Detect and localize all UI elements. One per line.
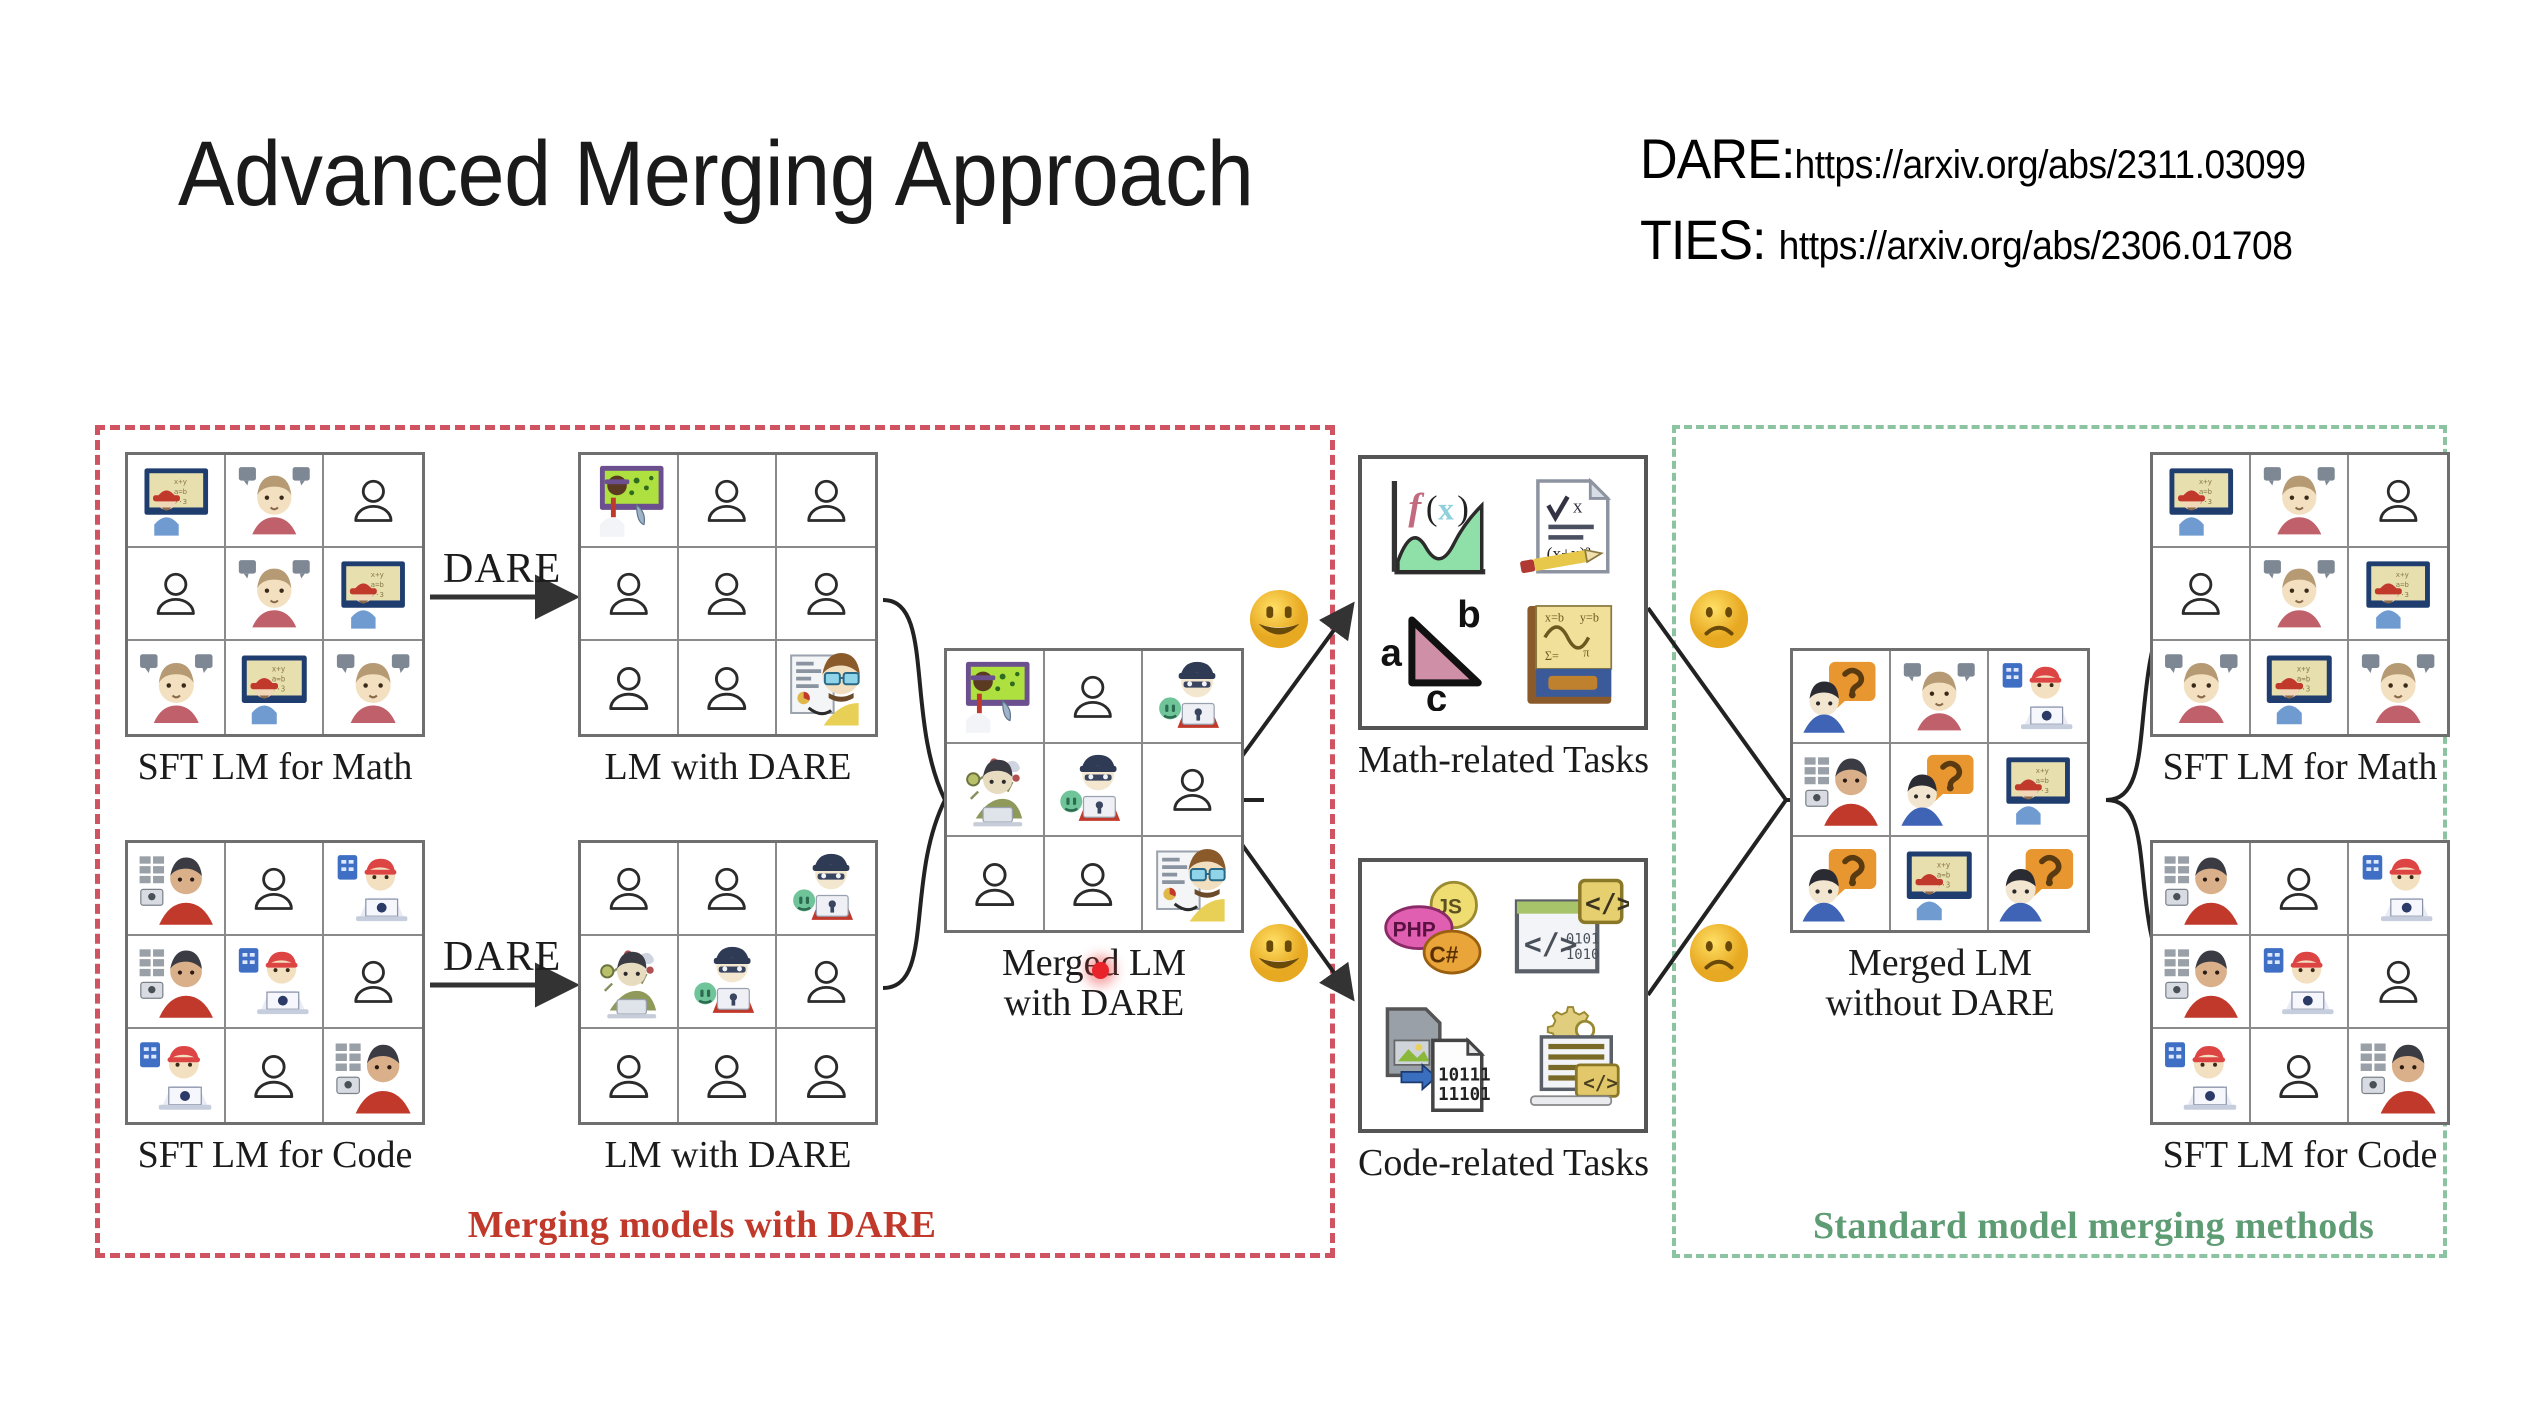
svg-text:a=b: a=b xyxy=(2396,580,2409,589)
svg-text:x+y: x+y xyxy=(1936,860,1950,869)
php-js-csharp-badges-icon-icon: JSPHPC# xyxy=(1377,877,1496,989)
coder-laptop-icon xyxy=(2258,942,2341,1020)
teacher-green-board-icon xyxy=(954,657,1037,735)
svg-text:0101: 0101 xyxy=(1566,931,1600,947)
technologist-network-icon xyxy=(954,750,1037,828)
svg-text:PHP: PHP xyxy=(1393,918,1436,941)
empty-icon xyxy=(1063,668,1123,724)
grinning-face-icon xyxy=(1248,588,1310,650)
coder-laptop-icon xyxy=(233,942,316,1020)
task-icon-slot: </>01011010</> xyxy=(1505,872,1634,994)
block-lm-with-dare-math: LM with DARE xyxy=(578,452,878,787)
grid-cell-empty xyxy=(226,1029,324,1122)
face-code-without-dare xyxy=(1688,922,1750,984)
dev-server-icon xyxy=(135,849,218,927)
grid-cell-filled xyxy=(324,1029,422,1122)
arrow-label-dare-code: DARE xyxy=(443,933,561,981)
svg-text:x+y: x+y xyxy=(271,664,285,673)
grid-cell-filled xyxy=(777,843,875,936)
task-icon-slot: f(x) xyxy=(1372,469,1501,591)
grid-cell-empty xyxy=(679,843,777,936)
svg-text:1010: 1010 xyxy=(1566,947,1600,963)
grid-cell-filled xyxy=(1891,744,1989,837)
grid-cell-filled xyxy=(226,548,324,641)
coder-laptop-icon xyxy=(135,1036,218,1116)
coder-laptop-icon xyxy=(331,849,415,927)
reference-dare-url[interactable]: https://arxiv.org/abs/2311.03099 xyxy=(1795,143,2306,188)
svg-text:</>: </> xyxy=(1583,1072,1618,1095)
page-title: Advanced Merging Approach xyxy=(178,128,1253,220)
person-thinking-icon xyxy=(233,461,316,539)
svg-text:x+y: x+y xyxy=(371,571,385,580)
grid-cell-empty xyxy=(128,548,226,641)
dev-server-icon xyxy=(331,1036,415,1116)
grid-cell-filled xyxy=(1045,744,1143,837)
grid-cell-filled: x+ya=b7·3 xyxy=(324,548,422,641)
triangle-abc-icon-icon: abc xyxy=(1377,599,1496,711)
grid-cell-filled xyxy=(1143,837,1241,930)
grid-cell-empty xyxy=(2251,1029,2349,1122)
task-icon-slot: x(x+y)² xyxy=(1505,469,1634,591)
grid-cell-empty xyxy=(2349,936,2447,1029)
svg-text:a=b: a=b xyxy=(1936,870,1950,879)
empty-icon xyxy=(2368,953,2429,1009)
teacher-math-board-icon: x+ya=b7·3 xyxy=(1996,750,2080,828)
empty-icon xyxy=(697,472,757,528)
coder-laptop-icon xyxy=(1996,657,2080,735)
block-label-code-tasks: Code-related Tasks xyxy=(1358,1143,1649,1183)
face-math-with-dare xyxy=(1248,588,1310,650)
grid-cell-filled xyxy=(128,1029,226,1122)
grid-cell-filled xyxy=(2153,641,2251,734)
svg-text:C#: C# xyxy=(1430,941,1459,967)
grid-cell-filled xyxy=(1793,651,1891,744)
grid-cell-filled xyxy=(2153,843,2251,936)
svg-text:x+y: x+y xyxy=(2296,664,2310,673)
svg-text:a=b: a=b xyxy=(371,580,384,589)
grid-cell-filled xyxy=(2251,548,2349,641)
face-code-with-dare xyxy=(1248,922,1310,984)
svg-text:x+y: x+y xyxy=(2036,767,2050,776)
grid-cell-filled: x+ya=b7·3 xyxy=(128,455,226,548)
grid-cell-filled: x+ya=b7·3 xyxy=(1989,744,2087,837)
grid-cell-filled: x+ya=b7·3 xyxy=(226,641,324,734)
file-binary-convert-icon-icon: 1011111101 xyxy=(1377,1002,1496,1114)
task-icon-slot: 1011111101 xyxy=(1372,998,1501,1120)
teacher-math-board-icon: x+ya=b7·3 xyxy=(2356,554,2440,632)
dev-server-icon xyxy=(2356,1036,2440,1116)
person-thinking-icon xyxy=(2258,554,2341,632)
svg-text:a: a xyxy=(1381,632,1403,675)
grid-cell-filled xyxy=(679,936,777,1029)
person-thinking-icon xyxy=(233,554,316,632)
empty-icon xyxy=(697,1047,757,1105)
block-merged-lm-without-dare: x+ya=b7·3x+ya=b7·3 Merged LM without DAR… xyxy=(1790,648,2090,1024)
empty-icon xyxy=(244,860,304,916)
empty-icon xyxy=(599,860,659,916)
grid-cell-empty xyxy=(947,837,1045,930)
grid-cell-empty xyxy=(2251,843,2349,936)
grid-cell-filled xyxy=(1793,744,1891,837)
reference-ties-url[interactable]: https://arxiv.org/abs/2306.01708 xyxy=(1779,224,2293,269)
empty-icon xyxy=(796,953,857,1009)
person-thinking-icon xyxy=(135,648,218,728)
empty-icon xyxy=(2269,860,2329,916)
grid-cell-filled xyxy=(2349,1029,2447,1122)
grid-cell-empty xyxy=(777,548,875,641)
block-math-related-tasks: f(x)x(x+y)²abcx=by=bΣ=π Math-related Tas… xyxy=(1358,455,1649,780)
empty-icon xyxy=(965,855,1025,913)
svg-text:x=b: x=b xyxy=(1545,611,1564,625)
grid-cell-empty xyxy=(1045,837,1143,930)
reference-dare-key: DARE: xyxy=(1640,126,1795,191)
empty-icon xyxy=(599,1047,659,1105)
svg-text:c: c xyxy=(1426,677,1447,711)
empty-icon xyxy=(697,860,757,916)
code-deploy-icon-icon: </> xyxy=(1510,1002,1629,1114)
reference-links: DARE: https://arxiv.org/abs/2311.03099 T… xyxy=(1640,126,2306,272)
grid-cell-empty xyxy=(226,843,324,936)
grid-cell-empty xyxy=(679,641,777,734)
block-sft-lm-for-code-right: SFT LM for Code xyxy=(2150,840,2450,1175)
dev-server-icon xyxy=(1800,750,1883,828)
empty-icon xyxy=(343,472,404,528)
svg-text:b: b xyxy=(1457,599,1480,636)
empty-icon xyxy=(1162,761,1223,817)
person-thinking-icon xyxy=(2356,648,2440,728)
grid-cell-filled xyxy=(226,936,324,1029)
svg-text:f: f xyxy=(1409,486,1425,528)
block-label-sft-math-left: SFT LM for Math xyxy=(125,747,425,787)
block-label-sft-code-left: SFT LM for Code xyxy=(125,1135,425,1175)
grid-cell-filled xyxy=(128,936,226,1029)
hacker-laptop-icon xyxy=(784,849,868,927)
task-icon-slot: abc xyxy=(1372,595,1501,717)
empty-icon xyxy=(697,659,757,717)
slightly-frowning-face-icon xyxy=(1688,922,1750,984)
reference-ties-key: TIES: xyxy=(1640,207,1766,272)
block-code-related-tasks: JSPHPC#</>01011010</>1011111101</> Code-… xyxy=(1358,858,1649,1183)
empty-icon xyxy=(2171,565,2231,621)
svg-text:x+y: x+y xyxy=(174,478,188,487)
block-label-math-tasks: Math-related Tasks xyxy=(1358,740,1649,780)
code-window-icon-icon: </>01011010</> xyxy=(1510,877,1629,989)
arrow-label-dare-math: DARE xyxy=(443,545,561,593)
teacher-green-board-icon xyxy=(588,461,671,539)
hacker-laptop-icon xyxy=(686,942,769,1020)
svg-text:a=b: a=b xyxy=(2036,776,2049,785)
block-sft-lm-for-math-left: x+ya=b7·3x+ya=b7·3x+ya=b7·3 SFT LM for M… xyxy=(125,452,425,787)
reference-ties: TIES: https://arxiv.org/abs/2306.01708 xyxy=(1640,207,2306,272)
math-textbook-icon-icon: x=by=bΣ=π xyxy=(1510,599,1629,711)
grid-cell-empty xyxy=(679,1029,777,1122)
person-thinking-icon xyxy=(2160,648,2243,728)
grid-cell-filled: x+ya=b7·3 xyxy=(1891,837,1989,930)
dev-server-icon xyxy=(135,942,218,1020)
empty-icon xyxy=(1063,855,1123,913)
svg-text:π: π xyxy=(1583,646,1589,660)
slightly-frowning-face-icon xyxy=(1688,588,1750,650)
grid-cell-filled xyxy=(947,651,1045,744)
svg-text:x: x xyxy=(1573,496,1583,517)
face-math-without-dare xyxy=(1688,588,1750,650)
region-left-caption: Merging models with DARE xyxy=(87,1203,1317,1247)
person-question-icon xyxy=(1898,750,1981,828)
hacker-laptop-icon xyxy=(1150,657,1234,735)
scientist-chart-icon xyxy=(784,648,868,728)
grid-cell-filled xyxy=(1793,837,1891,930)
person-thinking-icon xyxy=(331,648,415,728)
block-label-merged-with-dare: Merged LM with DARE xyxy=(944,943,1244,1024)
empty-icon xyxy=(244,1047,304,1105)
grid-cell-empty xyxy=(679,455,777,548)
svg-text:x: x xyxy=(1438,491,1454,526)
grid-cell-filled xyxy=(947,744,1045,837)
grid-cell-empty xyxy=(2153,548,2251,641)
svg-text:x+y: x+y xyxy=(2396,571,2410,580)
grid-cell-filled xyxy=(2349,843,2447,936)
grid-cell-empty xyxy=(777,455,875,548)
grid-cell-empty xyxy=(581,548,679,641)
block-sft-lm-for-code-left: SFT LM for Code xyxy=(125,840,425,1175)
block-lm-with-dare-code: LM with DARE xyxy=(578,840,878,1175)
svg-text:a=b: a=b xyxy=(271,674,285,683)
hacker-laptop-icon xyxy=(1052,750,1135,828)
task-icon-slot: </> xyxy=(1505,998,1634,1120)
svg-text:a=b: a=b xyxy=(174,487,187,496)
block-sft-lm-for-math-right: x+ya=b7·3x+ya=b7·3x+ya=b7·3 SFT LM for M… xyxy=(2150,452,2450,787)
empty-icon xyxy=(2269,1047,2329,1105)
svg-text:11101: 11101 xyxy=(1438,1085,1491,1105)
grid-cell-filled xyxy=(581,936,679,1029)
svg-text:x+y: x+y xyxy=(2199,478,2213,487)
reference-dare: DARE: https://arxiv.org/abs/2311.03099 xyxy=(1640,126,2306,191)
svg-text:y=b: y=b xyxy=(1580,611,1599,625)
laser-pointer-dot xyxy=(1092,962,1109,979)
coder-laptop-icon xyxy=(2160,1036,2243,1116)
person-question-icon xyxy=(1800,844,1883,924)
teacher-math-board-icon: x+ya=b7·3 xyxy=(1898,844,1981,924)
svg-text:(: ( xyxy=(1426,488,1438,527)
grid-cell-filled xyxy=(324,641,422,734)
teacher-math-board-icon: x+ya=b7·3 xyxy=(233,648,316,728)
person-thinking-icon xyxy=(2258,461,2341,539)
grid-cell-filled xyxy=(128,843,226,936)
empty-icon xyxy=(2368,472,2429,528)
technologist-network-icon xyxy=(588,942,671,1020)
grid-cell-filled xyxy=(1989,837,2087,930)
svg-text:Σ=: Σ= xyxy=(1545,649,1559,663)
grid-cell-filled xyxy=(128,641,226,734)
grid-cell-filled xyxy=(777,641,875,734)
grid-cell-empty xyxy=(1045,651,1143,744)
teacher-math-board-icon: x+ya=b7·3 xyxy=(135,461,218,539)
teacher-math-board-icon: x+ya=b7·3 xyxy=(331,554,415,632)
block-label-sft-code-right: SFT LM for Code xyxy=(2150,1135,2450,1175)
block-label-merged-without-dare: Merged LM without DARE xyxy=(1790,943,2090,1024)
grid-cell-filled xyxy=(1891,651,1989,744)
task-icon-slot: x=by=bΣ=π xyxy=(1505,595,1634,717)
grid-cell-empty xyxy=(777,1029,875,1122)
person-question-icon xyxy=(1800,657,1883,735)
grid-cell-filled xyxy=(2251,455,2349,548)
grid-cell-filled xyxy=(2153,936,2251,1029)
grid-cell-filled xyxy=(581,455,679,548)
grid-cell-filled: x+ya=b7·3 xyxy=(2153,455,2251,548)
scientist-chart-icon xyxy=(1150,844,1234,924)
function-plot-icon-icon: f(x) xyxy=(1377,474,1496,586)
svg-text:a=b: a=b xyxy=(2296,674,2310,683)
empty-icon xyxy=(796,1047,857,1105)
grid-cell-empty xyxy=(777,936,875,1029)
teacher-math-board-icon: x+ya=b7·3 xyxy=(2258,648,2341,728)
empty-icon xyxy=(796,472,857,528)
grid-cell-filled xyxy=(1143,651,1241,744)
svg-text:10111: 10111 xyxy=(1438,1066,1491,1086)
region-right-caption: Standard model merging methods xyxy=(1710,1204,2477,1248)
teacher-math-board-icon: x+ya=b7·3 xyxy=(2160,461,2243,539)
svg-text:a=b: a=b xyxy=(2199,487,2212,496)
empty-icon xyxy=(796,565,857,621)
grid-cell-filled xyxy=(226,455,324,548)
grid-cell-filled xyxy=(2251,936,2349,1029)
empty-icon xyxy=(599,565,659,621)
grid-cell-empty xyxy=(324,936,422,1029)
grid-cell-empty xyxy=(581,641,679,734)
empty-icon xyxy=(343,953,404,1009)
person-thinking-icon xyxy=(1898,657,1981,735)
block-label-sft-math-right: SFT LM for Math xyxy=(2150,747,2450,787)
grid-cell-empty xyxy=(581,1029,679,1122)
grid-cell-filled xyxy=(324,843,422,936)
grid-cell-filled: x+ya=b7·3 xyxy=(2251,641,2349,734)
svg-text:): ) xyxy=(1457,488,1469,527)
svg-text:</>: </> xyxy=(1585,889,1629,919)
grinning-face-icon xyxy=(1248,922,1310,984)
person-question-icon xyxy=(1996,844,2080,924)
grid-cell-filled xyxy=(1989,651,2087,744)
task-icon-slot: JSPHPC# xyxy=(1372,872,1501,994)
dev-server-icon xyxy=(2160,942,2243,1020)
grid-cell-empty xyxy=(324,455,422,548)
dev-server-icon xyxy=(2160,849,2243,927)
block-label-lm-dare-math: LM with DARE xyxy=(578,747,878,787)
coder-laptop-icon xyxy=(2356,849,2440,927)
grid-cell-empty xyxy=(1143,744,1241,837)
grid-cell-empty xyxy=(679,548,777,641)
empty-icon xyxy=(697,565,757,621)
empty-icon xyxy=(146,565,206,621)
grid-cell-filled xyxy=(2349,641,2447,734)
grid-cell-filled xyxy=(2153,1029,2251,1122)
empty-icon xyxy=(599,659,659,717)
grid-cell-empty xyxy=(2349,455,2447,548)
grid-cell-empty xyxy=(581,843,679,936)
math-worksheet-pencil-icon-icon: x(x+y)² xyxy=(1510,474,1629,586)
block-label-lm-dare-code: LM with DARE xyxy=(578,1135,878,1175)
grid-cell-filled: x+ya=b7·3 xyxy=(2349,548,2447,641)
